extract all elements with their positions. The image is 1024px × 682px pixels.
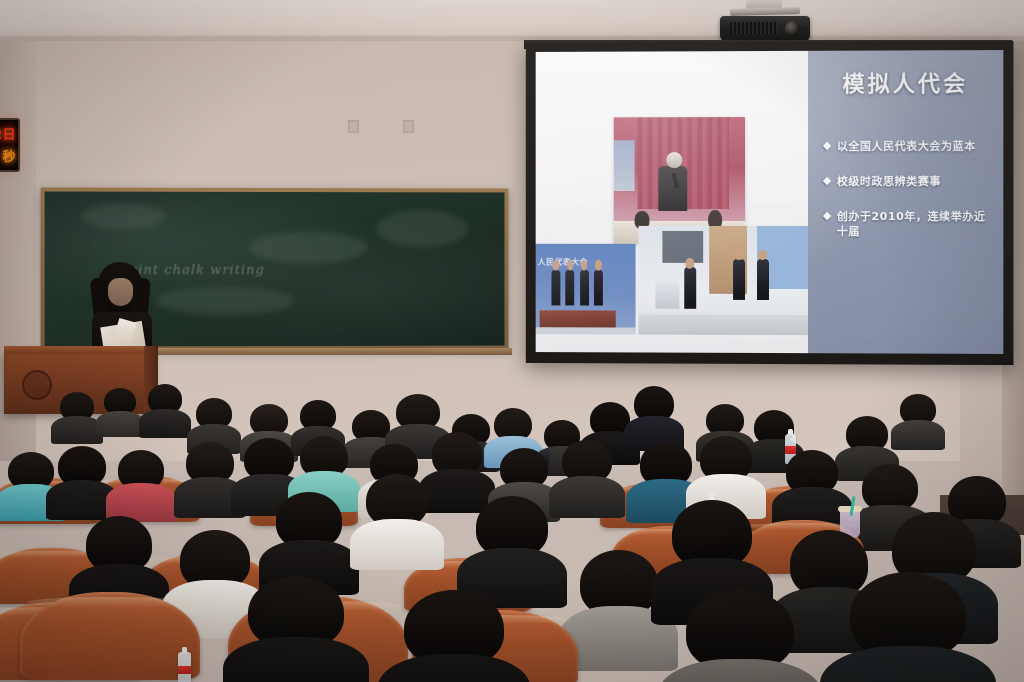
- audience-member: [148, 384, 182, 432]
- wall-socket-right: [403, 120, 414, 133]
- audience-member: [58, 446, 106, 512]
- water-bottle: [178, 652, 191, 682]
- wall-socket-left: [348, 120, 359, 133]
- classroom-person-1: [684, 267, 696, 308]
- slide-title: 模拟人代会: [808, 66, 1004, 99]
- audience-member: [196, 398, 232, 448]
- audience-member: [850, 572, 966, 682]
- slide-bullet-1: 以全国人民代表大会为蓝本: [824, 139, 995, 154]
- audience-member: [476, 496, 548, 596]
- presenter: [86, 262, 160, 356]
- audience-member: [366, 474, 428, 560]
- classroom-person-3: [757, 259, 769, 300]
- slide-image-panel: 人民代表大会: [536, 51, 808, 353]
- led-countdown-display: 2日 秒: [0, 118, 20, 172]
- auditorium-seat: [20, 592, 200, 680]
- audience-member: [404, 590, 504, 682]
- slide-bullet-list: 以全国人民代表大会为蓝本 校级时政思辨类赛事 创办于2010年，连续举办近十届: [824, 139, 995, 260]
- projector-mount-arm: [730, 7, 800, 16]
- slide-bullet-2: 校级时政思辨类赛事: [824, 174, 995, 189]
- projector-body: [720, 16, 810, 42]
- presenter-face: [108, 278, 133, 306]
- projector-vent: [730, 22, 778, 34]
- audience-member: [118, 450, 164, 514]
- audience-member: [104, 388, 136, 432]
- slide-bullet-3: 创办于2010年，连续举办近十届: [824, 209, 995, 239]
- audience-member: [60, 392, 94, 438]
- podium-top: [4, 346, 154, 354]
- classroom-person-2: [733, 259, 745, 300]
- audience-member: [900, 394, 936, 444]
- slide-photo-bottom-left: 人民代表大会: [536, 244, 636, 334]
- audience-member: [432, 432, 482, 504]
- audience-member: [580, 550, 658, 658]
- projection-screen: 人民代表大会: [526, 41, 1014, 365]
- audience-member: [186, 442, 234, 510]
- audience-member: [180, 530, 250, 626]
- audience-member: [634, 386, 674, 444]
- delegate-room-floor: [536, 327, 636, 335]
- lecture-hall-scene: 2日 秒 faint chalk writing: [0, 0, 1024, 682]
- stage-blue-screen: [614, 140, 635, 191]
- audience-area: [0, 380, 1024, 682]
- classroom-floor: [639, 315, 808, 335]
- audience-member: [686, 590, 794, 682]
- classroom-podium: [655, 276, 679, 309]
- projector-lens-icon: [785, 21, 800, 36]
- led-line-1: 2日: [0, 124, 18, 143]
- delegate-1: [552, 269, 561, 305]
- delegate-4: [594, 269, 603, 305]
- audience-member: [562, 440, 612, 510]
- ceiling: [0, 0, 1024, 40]
- stage-speaker-head: [666, 152, 682, 168]
- delegate-2: [566, 269, 575, 305]
- presentation-slide: 人民代表大会: [536, 50, 1004, 354]
- slide-photo-bottom-right: [639, 226, 808, 335]
- audience-member: [276, 492, 342, 584]
- audience-member: [248, 576, 344, 682]
- classroom-display-screen: [662, 230, 703, 263]
- audience-member: [786, 450, 838, 522]
- slide-text-panel: 模拟人代会 以全国人民代表大会为蓝本 校级时政思辨类赛事 创办于2010年，连续…: [808, 50, 1004, 354]
- delegate-3: [580, 269, 589, 305]
- led-line-2: 秒: [0, 146, 18, 165]
